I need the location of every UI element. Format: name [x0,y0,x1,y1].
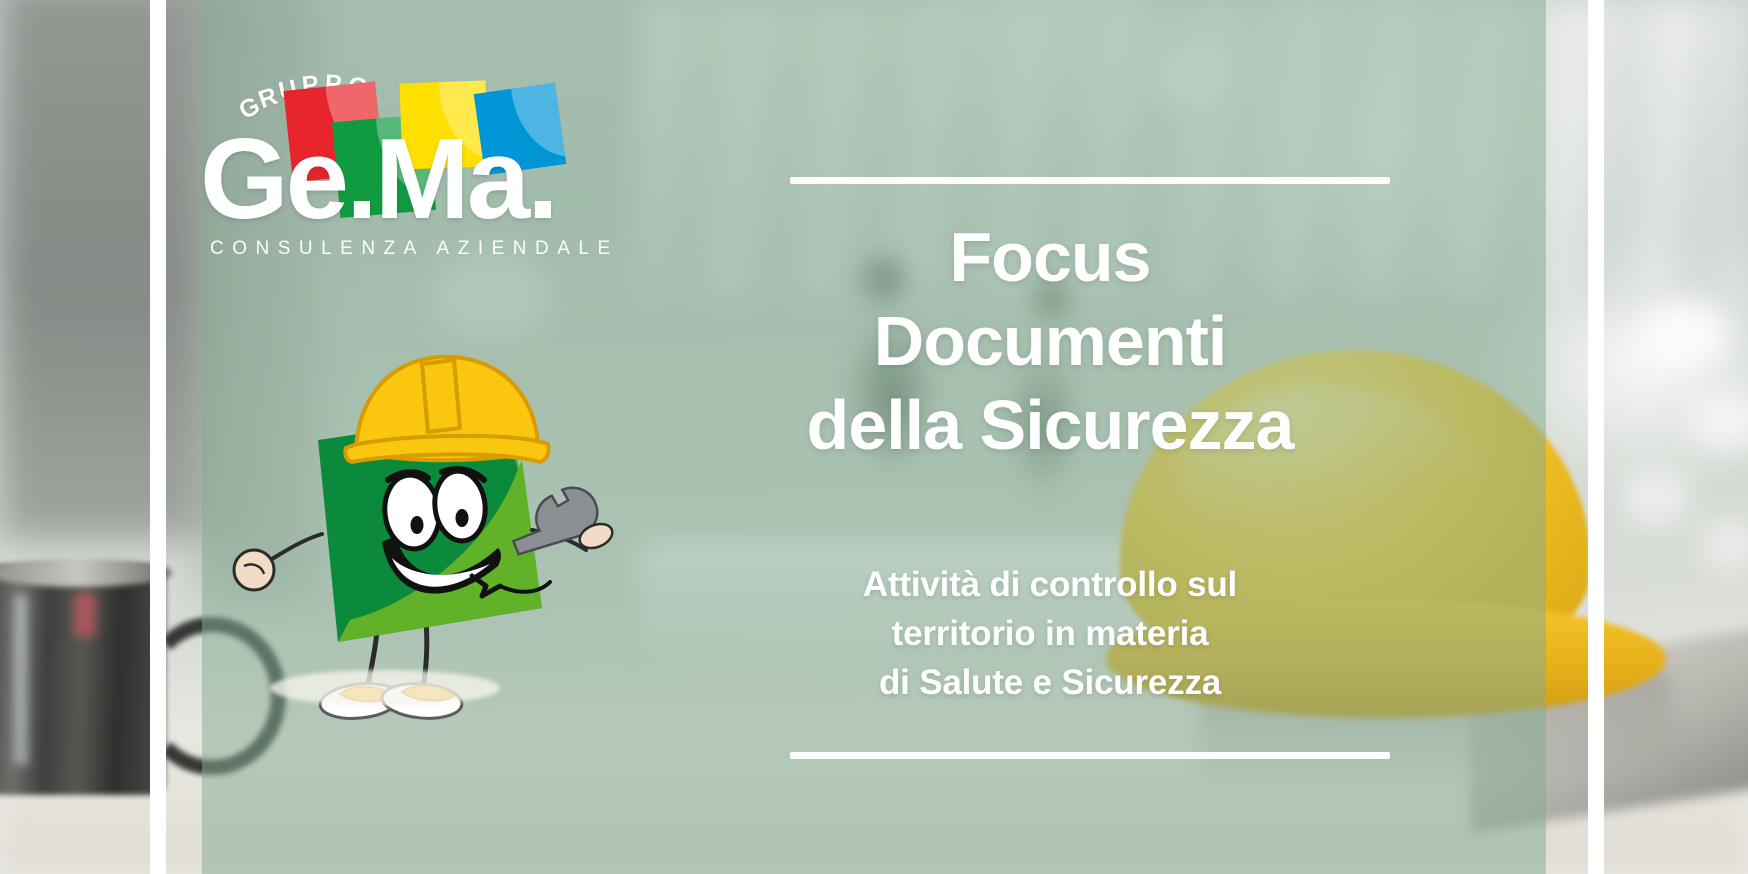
title-line-3: della Sicurezza [700,383,1400,467]
promo-banner: G R U P P O GRUPPO Ge.Ma. CONSULENZA AZI… [0,0,1748,874]
page-subtitle: Attività di controllo sul territorio in … [700,560,1400,707]
subtitle-line-1: Attività di controllo sul [700,560,1400,609]
left-white-divider [150,0,166,874]
right-white-divider [1588,0,1604,874]
title-line-1: Focus [700,215,1400,299]
coffee-mug [0,555,205,805]
gema-logo[interactable]: G R U P P O GRUPPO Ge.Ma. CONSULENZA AZI… [196,60,626,260]
subtitle-line-2: territorio in materia [700,609,1400,658]
mug-highlight [14,595,28,765]
title-line-2: Documenti [700,299,1400,383]
title-rule-bottom [790,752,1390,759]
mascot-ground-shadow [270,670,500,706]
mascot-character [210,320,630,740]
title-rule-top [790,177,1390,184]
brand-name: Ge.Ma. [200,120,620,240]
brand-tagline: CONSULENZA AZIENDALE [210,238,619,260]
mug-logo-mark [74,593,96,637]
page-title: Focus Documenti della Sicurezza [700,215,1400,467]
subtitle-line-3: di Salute e Sicurezza [700,658,1400,707]
